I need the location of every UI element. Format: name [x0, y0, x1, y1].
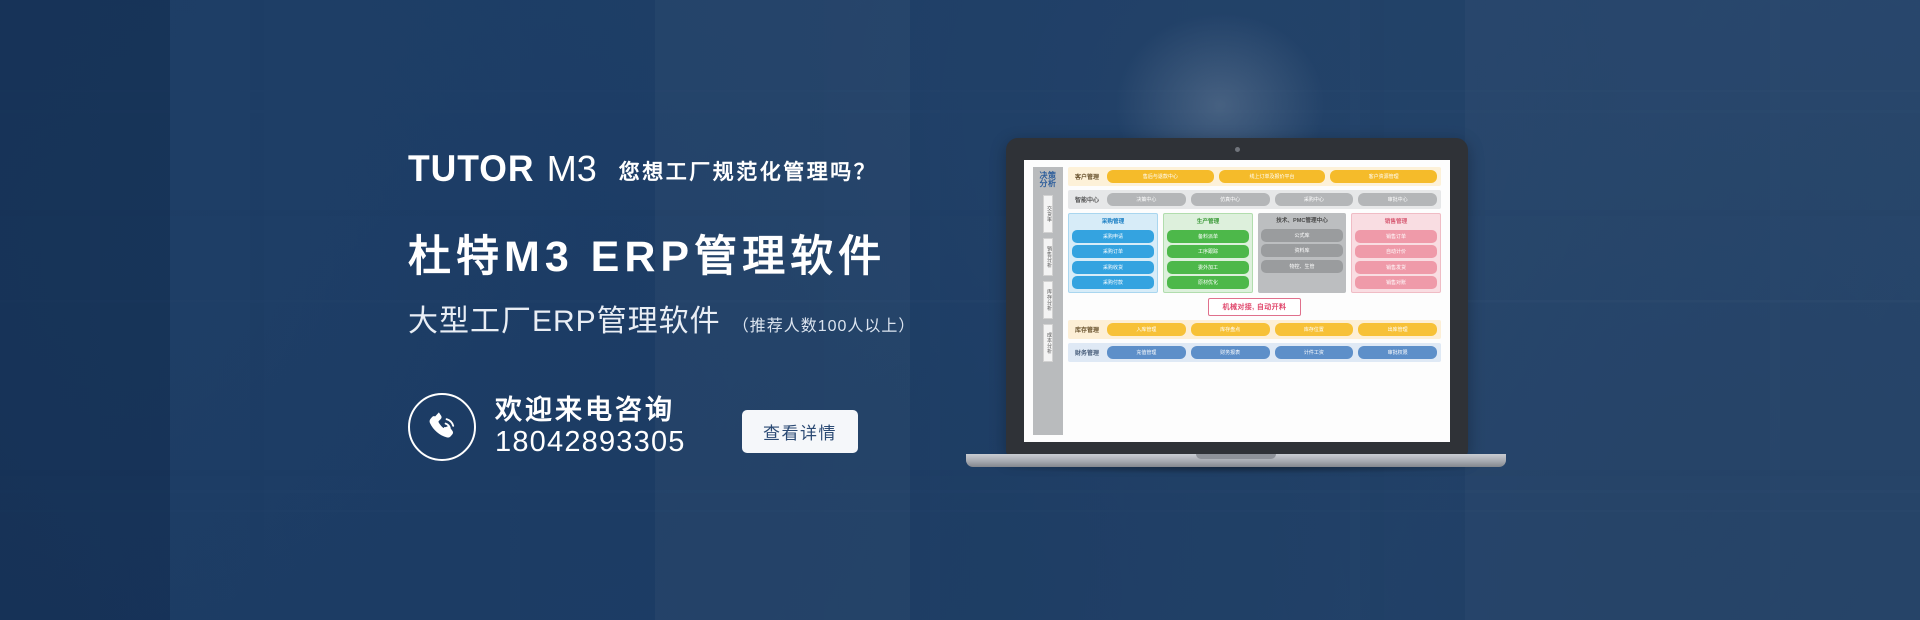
erp-column-title-tech-pmc: 技术、PMC管理中心: [1261, 216, 1343, 226]
erp-item-data-library[interactable]: 资料库: [1261, 244, 1343, 257]
erp-strip-label-customer: 客户管理: [1072, 172, 1102, 181]
erp-column-title-purchase: 采购管理: [1072, 217, 1154, 227]
contact-welcome-text: 欢迎来电咨询: [495, 395, 686, 425]
brand-slogan: 您想工厂规范化管理吗？: [619, 156, 878, 186]
erp-item-sales-shipment[interactable]: 销售发货: [1355, 261, 1437, 274]
subtitle-note: （推荐人数100人以上）: [733, 312, 916, 336]
erp-item-purchase-payment[interactable]: 采购付款: [1072, 276, 1154, 289]
erp-pill-stocktake[interactable]: 库存盘点: [1191, 323, 1270, 336]
erp-strip-label-smart: 智能中心: [1072, 195, 1102, 204]
erp-strip-customer: 客户管理 售后与退款中心 线上订单及报价平台 客户资源管理: [1068, 167, 1441, 186]
erp-pill-customer-resource[interactable]: 客户资源管理: [1330, 170, 1437, 183]
erp-item-process-tracking[interactable]: 工序跟踪: [1167, 245, 1249, 258]
erp-diagram-body: 决策分析 交货率 销售分析 库存分析 成本分析 客户管理 售后与退款中心 线上订: [1033, 167, 1441, 435]
subtitle-text: 大型工厂ERP管理软件: [408, 296, 721, 340]
erp-pill-purchase-center[interactable]: 采购中心: [1275, 193, 1354, 206]
erp-item-auto-pricing[interactable]: 自动计价: [1355, 245, 1437, 258]
erp-column-title-sales: 销售管理: [1355, 217, 1437, 227]
erp-sidebar-item-stock-analysis[interactable]: 库存分析: [1043, 281, 1053, 319]
erp-callout-machine-integration: 机械对接, 自动开料: [1208, 298, 1302, 316]
contact-block[interactable]: 欢迎来电咨询 18042893305: [408, 393, 686, 461]
erp-sidebar-item-delivery[interactable]: 交货率: [1043, 195, 1053, 233]
erp-callout-row: 机械对接, 自动开料: [1068, 297, 1441, 316]
erp-column-sales: 销售管理 销售订单 自动计价 销售发货 销售对账: [1351, 213, 1441, 293]
laptop-screen: 决策分析 交货率 销售分析 库存分析 成本分析 客户管理 售后与退款中心 线上订: [1024, 160, 1450, 442]
erp-sidebar-item-sales-analysis[interactable]: 销售分析: [1043, 238, 1053, 276]
erp-strip-label-inventory: 库存管理: [1072, 325, 1102, 334]
view-details-button[interactable]: 查看详情: [742, 410, 858, 453]
erp-item-material-optimization[interactable]: 原材优化: [1167, 276, 1249, 289]
subtitle-row: 大型工厂ERP管理软件 （推荐人数100人以上）: [408, 296, 915, 340]
laptop-mockup: 决策分析 交货率 销售分析 库存分析 成本分析 客户管理 售后与退款中心 线上订: [966, 138, 1506, 478]
erp-pill-stock-location[interactable]: 库存位置: [1275, 323, 1354, 336]
erp-sidebar-item-cost-analysis[interactable]: 成本分析: [1043, 324, 1053, 362]
contact-phone-number[interactable]: 18042893305: [495, 426, 686, 459]
erp-pill-outbound[interactable]: 出库管理: [1358, 323, 1437, 336]
erp-pill-approval-rights[interactable]: 审批权限: [1358, 346, 1437, 359]
erp-strip-finance: 财务管理 充值管理 财务报表 计件工资 审批权限: [1068, 343, 1441, 362]
erp-column-purchase: 采购管理 采购申请 采购订单 采购收货 采购付款: [1068, 213, 1158, 293]
contact-texts: 欢迎来电咨询 18042893305: [495, 395, 686, 460]
erp-pill-decision-center[interactable]: 决策中心: [1107, 193, 1186, 206]
erp-strip-inventory: 库存管理 入库管理 库存盘点 库存位置 出库管理: [1068, 320, 1441, 339]
erp-pill-recharge[interactable]: 充值管理: [1107, 346, 1186, 359]
laptop-shadow: [978, 467, 1494, 474]
brand-logo-m3: M3: [547, 148, 597, 190]
brand-logo-tutor: TUTOR: [408, 148, 534, 190]
erp-pill-approval-center[interactable]: 审批中心: [1358, 193, 1437, 206]
webcam-icon: [1235, 147, 1240, 152]
erp-sidebar-title: 决策分析: [1036, 170, 1060, 190]
erp-item-sales-order[interactable]: 销售订单: [1355, 230, 1437, 243]
erp-pill-aftersales[interactable]: 售后与退款中心: [1107, 170, 1214, 183]
erp-item-formula-library[interactable]: 公式库: [1261, 229, 1343, 242]
brand-row: TUTOR M3 您想工厂规范化管理吗？: [408, 148, 877, 190]
erp-pill-financial-report[interactable]: 财务报表: [1191, 346, 1270, 359]
erp-item-purchase-order[interactable]: 采购订单: [1072, 245, 1154, 258]
erp-item-sales-reconciliation[interactable]: 销售对账: [1355, 276, 1437, 289]
erp-pill-simulation-center[interactable]: 仿真中心: [1191, 193, 1270, 206]
erp-main-area: 客户管理 售后与退款中心 线上订单及报价平台 客户资源管理 智能中心 决策中心 …: [1068, 167, 1441, 435]
erp-pill-piecework-wage[interactable]: 计件工资: [1275, 346, 1354, 359]
erp-diagram: 决策分析 交货率 销售分析 库存分析 成本分析 客户管理 售后与退款中心 线上订: [1024, 160, 1450, 442]
erp-columns: 采购管理 采购申请 采购订单 采购收货 采购付款 生产管理 备料派单 工序跟踪: [1068, 213, 1441, 293]
erp-item-material-dispatch[interactable]: 备料派单: [1167, 230, 1249, 243]
banner-content: TUTOR M3 您想工厂规范化管理吗？ 杜特M3 ERP管理软件 大型工厂ER…: [0, 0, 1920, 620]
laptop-lid: 决策分析 交货率 销售分析 库存分析 成本分析 客户管理 售后与退款中心 线上订: [1006, 138, 1468, 456]
laptop-notch: [1196, 454, 1276, 459]
erp-pill-inbound[interactable]: 入库管理: [1107, 323, 1186, 336]
erp-item-purchase-receipt[interactable]: 采购收货: [1072, 261, 1154, 274]
erp-column-title-production: 生产管理: [1167, 217, 1249, 227]
erp-column-tech-pmc: 技术、PMC管理中心 公式库 资料库 物控、生管: [1258, 213, 1346, 293]
erp-item-outsourcing[interactable]: 委外加工: [1167, 261, 1249, 274]
erp-item-purchase-request[interactable]: 采购申请: [1072, 230, 1154, 243]
phone-ring-icon: [408, 393, 476, 461]
erp-strip-smart-center: 智能中心 决策中心 仿真中心 采购中心 审批中心: [1068, 190, 1441, 209]
page-title: 杜特M3 ERP管理软件: [408, 222, 886, 284]
erp-sidebar: 决策分析 交货率 销售分析 库存分析 成本分析: [1033, 167, 1063, 435]
erp-item-material-control[interactable]: 物控、生管: [1261, 260, 1343, 273]
erp-strip-label-finance: 财务管理: [1072, 348, 1102, 357]
erp-column-production: 生产管理 备料派单 工序跟踪 委外加工 原材优化: [1163, 213, 1253, 293]
erp-pill-online-orders[interactable]: 线上订单及报价平台: [1219, 170, 1326, 183]
